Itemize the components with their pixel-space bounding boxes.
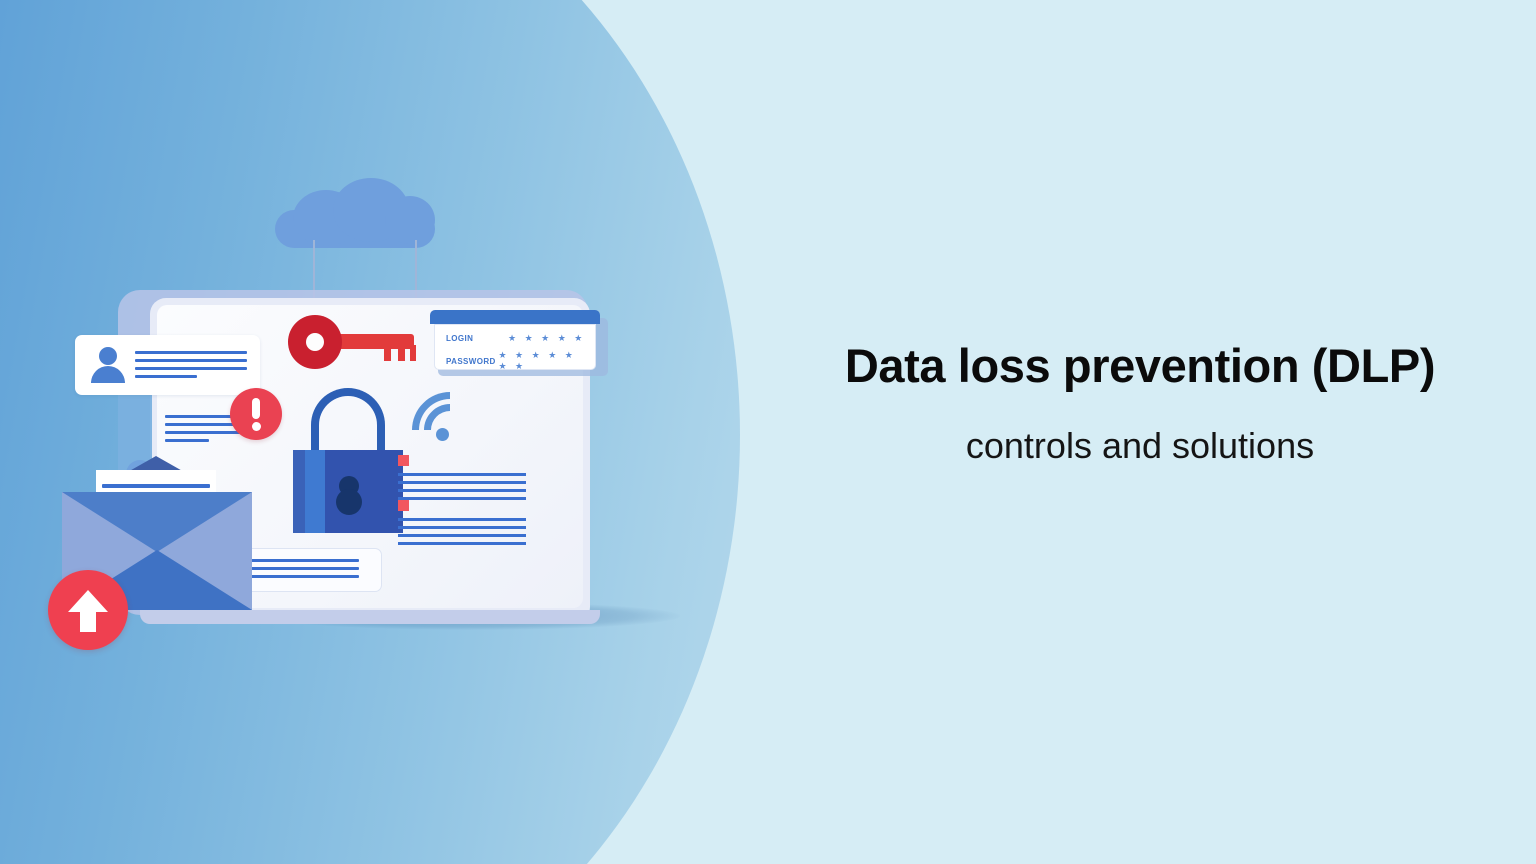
data-security-illustration: LOGIN ★ ★ ★ ★ ★ PASSWORD ★ ★ ★ ★ ★ ★ ★: [40, 170, 680, 690]
key-icon: [288, 315, 416, 369]
upload-arrow-icon: [48, 570, 128, 650]
cloud-icon: [275, 178, 435, 248]
screen-text-lines-small: [165, 415, 241, 447]
red-bullet-icon: [398, 455, 409, 466]
user-avatar-icon: [91, 347, 125, 383]
padlock-icon: [293, 388, 403, 533]
login-panel: LOGIN ★ ★ ★ ★ ★ PASSWORD ★ ★ ★ ★ ★ ★ ★: [430, 310, 600, 372]
page-subtitle: controls and solutions: [760, 426, 1520, 466]
slide-canvas: LOGIN ★ ★ ★ ★ ★ PASSWORD ★ ★ ★ ★ ★ ★ ★: [0, 0, 1536, 864]
login-panel-body: LOGIN ★ ★ ★ ★ ★ PASSWORD ★ ★ ★ ★ ★ ★ ★: [434, 324, 596, 370]
login-value: ★ ★ ★ ★ ★: [508, 333, 585, 344]
blocked-notice-lines: [234, 559, 366, 583]
login-panel-titlebar: [430, 310, 600, 324]
alert-exclamation-icon: [230, 388, 282, 440]
user-card-lines: [135, 351, 247, 383]
slide-text-block: Data loss prevention (DLP) controls and …: [760, 340, 1520, 465]
screen-doc-block-2: [398, 500, 526, 550]
screen-doc-block-1: [398, 455, 526, 505]
user-contact-card: [75, 335, 260, 395]
password-value: ★ ★ ★ ★ ★ ★ ★: [498, 350, 592, 372]
page-title: Data loss prevention (DLP): [760, 340, 1520, 392]
red-bullet-icon: [398, 500, 409, 511]
wifi-icon: [412, 392, 474, 442]
login-label: LOGIN: [446, 334, 508, 343]
password-label: PASSWORD: [446, 357, 498, 366]
